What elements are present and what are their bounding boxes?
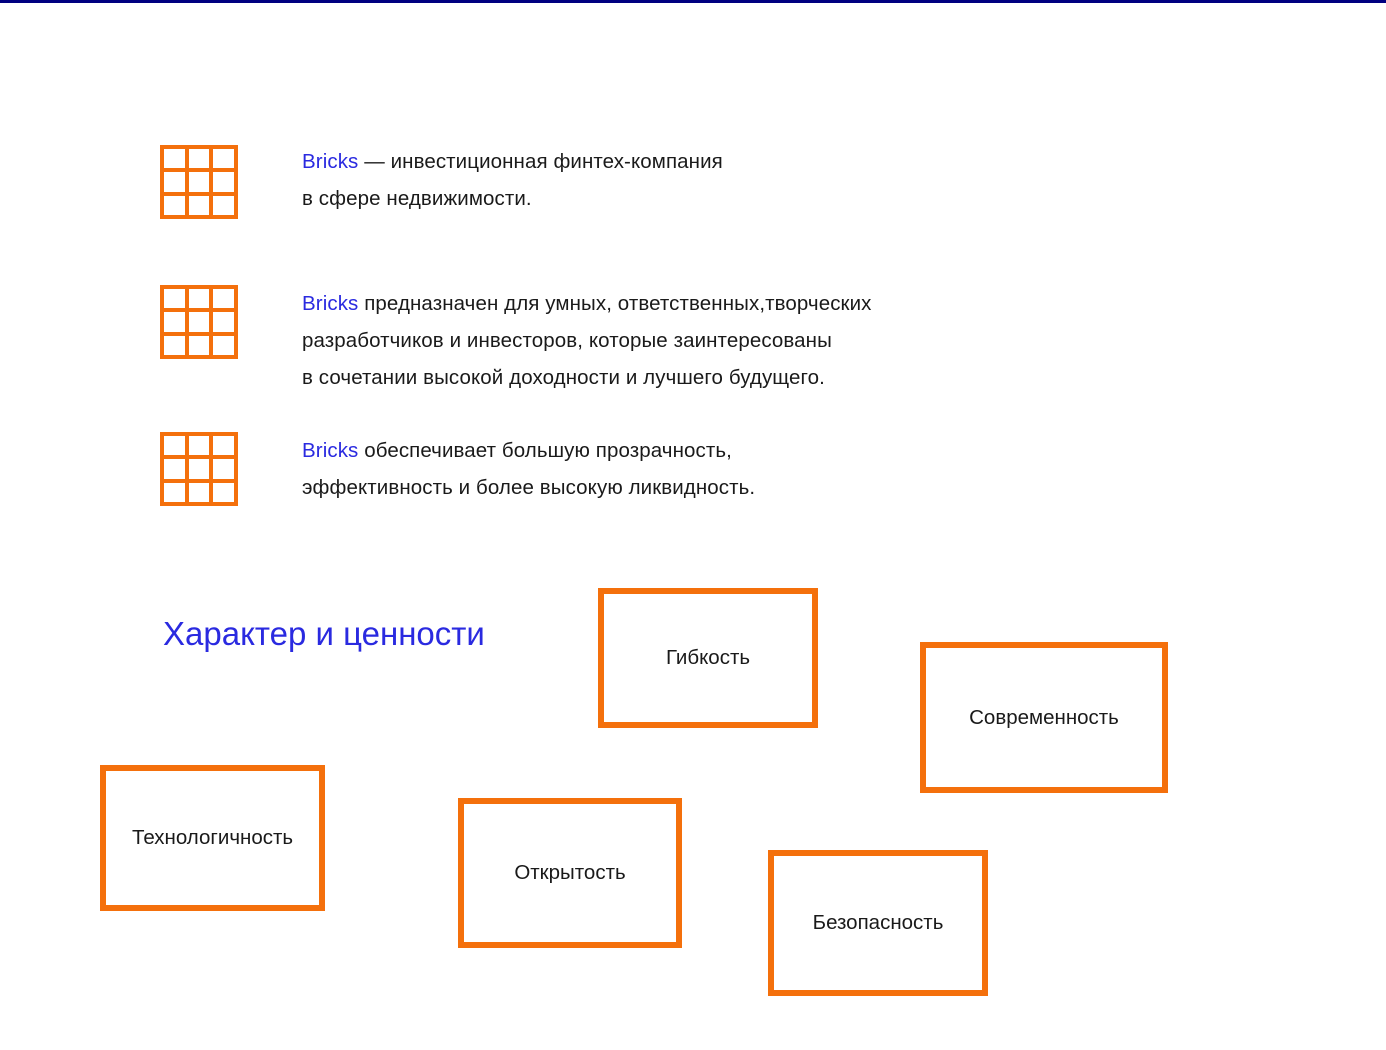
grid-cell bbox=[189, 312, 210, 331]
intro-line-text: в сфере недвижимости. bbox=[302, 187, 532, 210]
intro-line: эффективность и более высокую ликвидност… bbox=[302, 469, 755, 506]
value-box-technology: Технологичность bbox=[100, 765, 325, 911]
intro-line: Bricks предназначен для умных, ответстве… bbox=[302, 285, 872, 322]
grid-3x3-icon bbox=[160, 432, 238, 506]
brand-name: Bricks bbox=[302, 150, 358, 173]
intro-line-text: разработчиков и инвесторов, которые заин… bbox=[302, 329, 832, 352]
intro-line-text: обеспечивает большую прозрачность, bbox=[358, 439, 732, 462]
grid-3x3-icon bbox=[160, 285, 238, 359]
grid-cell bbox=[164, 459, 185, 478]
grid-cell bbox=[164, 312, 185, 331]
intro-paragraph-2: Bricks предназначен для умных, ответстве… bbox=[302, 285, 872, 396]
value-box-security: Безопасность bbox=[768, 850, 988, 996]
grid-cell bbox=[213, 483, 234, 502]
intro-line: Bricks — инвестиционная финтех-компания bbox=[302, 143, 723, 180]
intro-line-text: в сочетании высокой доходности и лучшего… bbox=[302, 366, 825, 389]
grid-cell bbox=[189, 149, 210, 168]
grid-cell bbox=[164, 196, 185, 215]
value-box-label: Технологичность bbox=[132, 826, 293, 850]
intro-line: в сфере недвижимости. bbox=[302, 180, 723, 217]
value-box-openness: Открытость bbox=[458, 798, 682, 948]
slide-canvas: Bricks — инвестиционная финтех-компания … bbox=[0, 0, 1386, 1050]
grid-cell bbox=[189, 336, 210, 355]
grid-cell bbox=[213, 196, 234, 215]
grid-cell bbox=[164, 483, 185, 502]
value-box-label: Открытость bbox=[514, 861, 625, 885]
grid-cell bbox=[189, 483, 210, 502]
grid-3x3-icon bbox=[160, 145, 238, 219]
grid-cell bbox=[164, 336, 185, 355]
value-box-label: Гибкость bbox=[666, 646, 750, 670]
grid-cell bbox=[189, 436, 210, 455]
grid-cell bbox=[213, 312, 234, 331]
brand-name: Bricks bbox=[302, 439, 358, 462]
intro-paragraph-1: Bricks — инвестиционная финтех-компания … bbox=[302, 143, 723, 217]
intro-line: в сочетании высокой доходности и лучшего… bbox=[302, 359, 872, 396]
value-box-label: Безопасность bbox=[813, 911, 944, 935]
values-section-heading: Характер и ценности bbox=[163, 614, 485, 654]
intro-line-text: — инвестиционная финтех-компания bbox=[358, 150, 722, 173]
grid-cell bbox=[164, 149, 185, 168]
grid-cell bbox=[213, 336, 234, 355]
grid-cell bbox=[213, 289, 234, 308]
intro-line-text: эффективность и более высокую ликвидност… bbox=[302, 476, 755, 499]
grid-cell bbox=[213, 172, 234, 191]
value-box-label: Современность bbox=[969, 706, 1119, 730]
grid-cell bbox=[213, 459, 234, 478]
intro-line: разработчиков и инвесторов, которые заин… bbox=[302, 322, 872, 359]
brand-name: Bricks bbox=[302, 292, 358, 315]
value-box-modernity: Современность bbox=[920, 642, 1168, 793]
grid-cell bbox=[189, 172, 210, 191]
intro-paragraph-3: Bricks обеспечивает большую прозрачность… bbox=[302, 432, 755, 506]
intro-line: Bricks обеспечивает большую прозрачность… bbox=[302, 432, 755, 469]
grid-cell bbox=[164, 289, 185, 308]
grid-cell bbox=[164, 172, 185, 191]
grid-cell bbox=[164, 436, 185, 455]
grid-cell bbox=[213, 149, 234, 168]
grid-cell bbox=[189, 196, 210, 215]
grid-cell bbox=[189, 459, 210, 478]
intro-line-text: предназначен для умных, ответственных,тв… bbox=[358, 292, 871, 315]
grid-cell bbox=[189, 289, 210, 308]
grid-cell bbox=[213, 436, 234, 455]
value-box-flexibility: Гибкость bbox=[598, 588, 818, 728]
top-rule-divider bbox=[0, 0, 1386, 3]
